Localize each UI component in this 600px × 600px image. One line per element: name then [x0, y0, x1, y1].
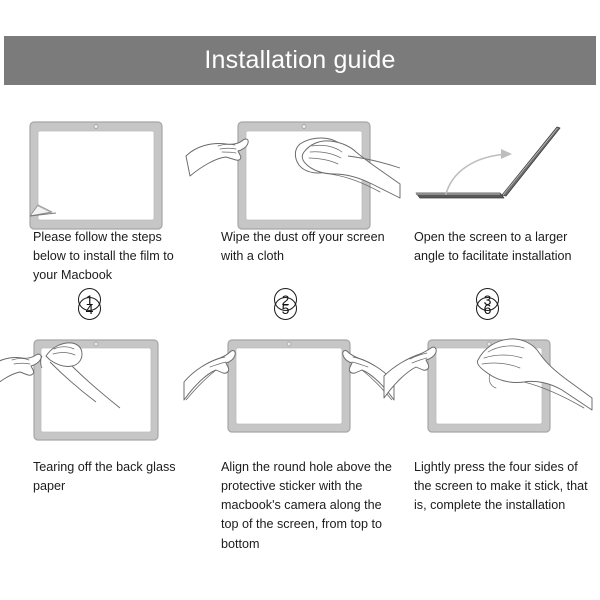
step-panel-2: Wipe the dust off your screen with a clo… [200, 100, 400, 266]
step-panel-3: Open the screen to a larger angle to fac… [400, 100, 600, 266]
step-badge-4: 4 [78, 297, 101, 320]
step-panel-5: Align the round hole above the protectiv… [200, 330, 400, 554]
step-2-caption: Wipe the dust off your screen with a clo… [200, 228, 400, 266]
step-3-caption: Open the screen to a larger angle to fac… [400, 228, 600, 266]
step-2-illustration [200, 100, 400, 218]
step-panel-6: Lightly press the four sides of the scre… [400, 330, 600, 515]
step-4-illustration [0, 330, 200, 448]
step-panel-4: Tearing off the back glass paper [0, 330, 200, 496]
header-bar: Installation guide [4, 36, 596, 85]
installation-steps-grid: Please follow the steps below to install… [0, 100, 600, 570]
step-badge-5-number: 5 [282, 302, 290, 316]
step-badge-4-number: 4 [86, 302, 94, 316]
step-badge-6: 6 [476, 297, 499, 320]
step-5-illustration [200, 330, 400, 448]
step-1-illustration [0, 100, 200, 218]
step-6-illustration [400, 330, 600, 448]
step-4-caption: Tearing off the back glass paper [0, 458, 200, 496]
step-5-caption: Align the round hole above the protectiv… [200, 458, 400, 554]
step-panel-1: Please follow the steps below to install… [0, 100, 200, 285]
step-badge-5: 5 [274, 297, 297, 320]
step-1-caption: Please follow the steps below to install… [0, 228, 200, 285]
step-3-illustration [400, 100, 600, 218]
step-6-caption: Lightly press the four sides of the scre… [400, 458, 600, 515]
page-title: Installation guide [204, 48, 395, 73]
step-badge-6-number: 6 [484, 302, 492, 316]
